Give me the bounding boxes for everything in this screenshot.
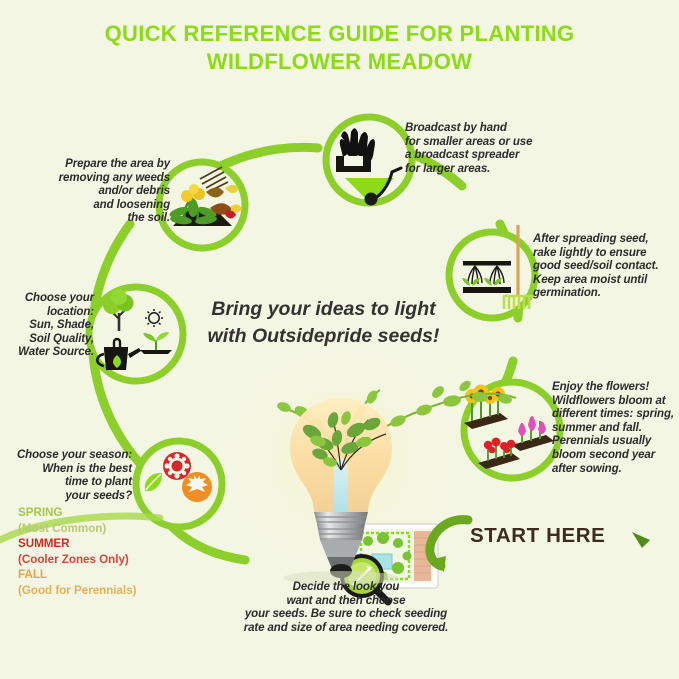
- season-spring-name: SPRING: [18, 505, 203, 521]
- page-title-line1: QUICK REFERENCE GUIDE FOR PLANTING: [0, 20, 679, 48]
- season-fall-note: (Good for Perennials): [18, 583, 203, 599]
- step-text-choose-location: Choose yourlocation:Sun, Shade,Soil Qual…: [6, 292, 94, 360]
- infographic-canvas: QUICK REFERENCE GUIDE FOR PLANTING WILDF…: [0, 0, 679, 679]
- step-text-choose-season: Choose your season:When is the besttime …: [16, 449, 132, 503]
- page-title-line2: WILDFLOWER MEADOW: [0, 48, 679, 76]
- season-fall-name: FALL: [18, 567, 203, 583]
- start-here-label: START HERE: [470, 524, 605, 548]
- season-summer-name: SUMMER: [18, 536, 203, 552]
- center-tagline-line2: with Outsidepride seeds!: [176, 323, 471, 350]
- page-title: QUICK REFERENCE GUIDE FOR PLANTING WILDF…: [0, 20, 679, 76]
- step-text-broadcast-seed: Broadcast by handfor smaller areas or us…: [405, 122, 555, 176]
- node-choose-location: [89, 287, 183, 381]
- season-spring-note: (Most Common): [18, 521, 203, 537]
- center-tagline-line1: Bring your ideas to light: [176, 296, 471, 323]
- node-prepare-area: [159, 162, 245, 248]
- step-text-prepare-area: Prepare the area byremoving any weedsand…: [48, 158, 170, 226]
- center-tagline: Bring your ideas to light with Outsidepr…: [176, 296, 471, 350]
- step-text-decide-look: Decide the look youwant and then choosey…: [181, 581, 511, 635]
- node-broadcast-seed: [326, 117, 412, 206]
- step-text-rake-and-water: After spreading seed,rake lightly to ens…: [533, 233, 677, 301]
- step-text-enjoy-flowers: Enjoy the flowers!Wildflowers bloom atdi…: [552, 381, 679, 476]
- season-summer-note: (Cooler Zones Only): [18, 552, 203, 568]
- season-legend: SPRING (Most Common) SUMMER (Cooler Zone…: [18, 505, 203, 598]
